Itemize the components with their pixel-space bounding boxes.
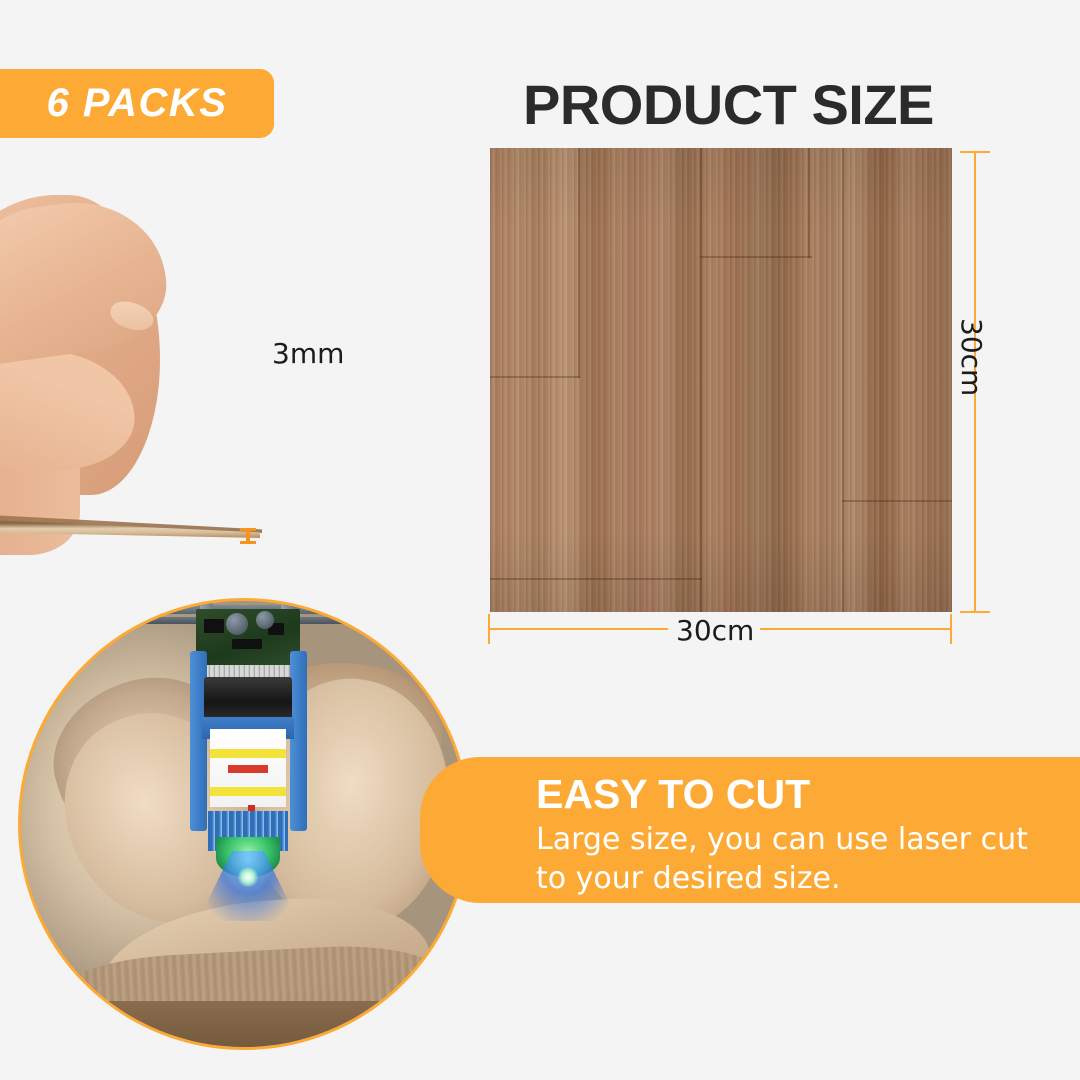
laser-label-warning: [228, 765, 268, 773]
pcb-chip: [204, 619, 224, 633]
packs-badge-label: 6 PACKS: [47, 81, 228, 126]
hand-illustration: [0, 185, 290, 515]
width-dimension-label: 30cm: [676, 614, 754, 647]
control-board: [196, 609, 300, 671]
product-infographic: 6 PACKS PRODUCT SIZE 3mm 30cm: [0, 0, 1080, 1080]
page-title: PRODUCT SIZE: [523, 72, 934, 137]
plank-seam: [842, 148, 844, 612]
width-dimension-line-right: [760, 628, 952, 630]
laser-label-stripe: [210, 787, 286, 796]
laser-housing-right: [290, 651, 307, 831]
banner-heading: EASY TO CUT: [536, 771, 810, 818]
laser-focus-point: [238, 867, 258, 887]
thickness-cap-bottom-icon: [240, 541, 256, 544]
plank-seam: [700, 256, 812, 258]
thickness-label: 3mm: [272, 337, 344, 370]
pcb-capacitor: [226, 613, 248, 635]
photo-foreground: [21, 1001, 470, 1050]
laser-label-stripe: [210, 749, 286, 758]
height-dimension-cap-bottom: [960, 611, 990, 613]
height-dimension-label: 30cm: [955, 318, 988, 396]
plank-seam: [490, 376, 580, 378]
height-dimension-cap-top: [960, 151, 990, 153]
plank-seam: [808, 148, 810, 258]
width-dimension-line-left: [488, 628, 668, 630]
pcb-capacitor: [256, 611, 274, 629]
packs-badge: 6 PACKS: [0, 69, 274, 138]
laser-diode-housing: [204, 677, 292, 719]
laser-circle-photo: [18, 598, 470, 1050]
plank-seam: [700, 148, 702, 612]
plank-seam: [842, 500, 952, 502]
plank-seam: [490, 578, 702, 580]
plank-seam: [578, 148, 580, 378]
pcb-chip: [232, 639, 262, 649]
laser-module: [186, 599, 311, 879]
width-dimension-cap-left: [488, 614, 490, 644]
width-dimension-cap-right: [950, 614, 952, 644]
wood-panel-photo: [490, 148, 952, 612]
banner-body-text: Large size, you can use laser cut to you…: [536, 820, 1056, 898]
hand-board-photo: [0, 185, 290, 515]
